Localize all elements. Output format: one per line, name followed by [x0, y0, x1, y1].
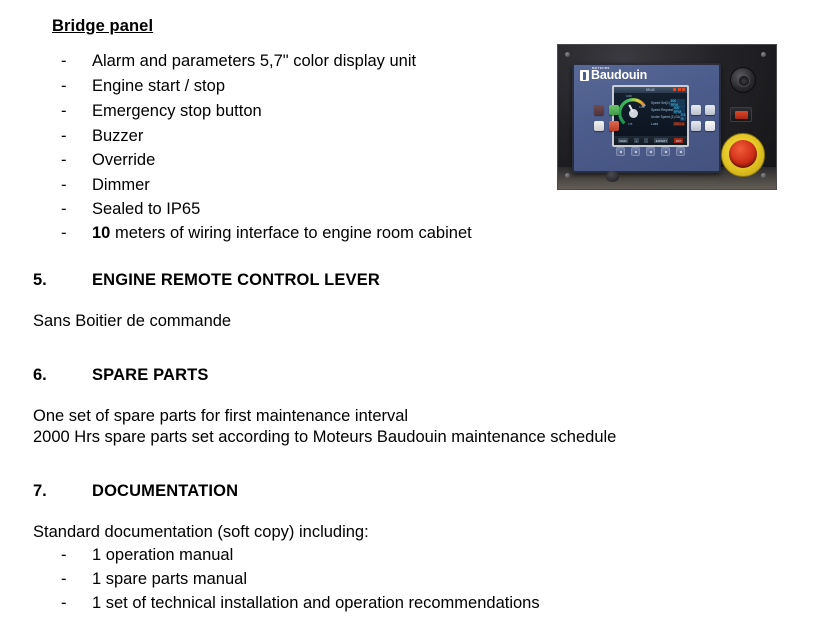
bullet-marker: -: [61, 174, 67, 197]
section-title: DOCUMENTATION: [92, 480, 238, 502]
parameter-row: Load 0001 A: [651, 120, 685, 127]
softkey-label: -: [644, 138, 648, 143]
bullet-marker: -: [61, 100, 67, 123]
section-6-body-line: 2000 Hrs spare parts set according to Mo…: [33, 426, 616, 448]
list-item-label: Buzzer: [92, 125, 143, 148]
bullet-marker: -: [61, 125, 67, 148]
section-number: 5.: [33, 269, 47, 291]
softkey-button: [616, 147, 625, 156]
color-display-unit: 09:41 750 1000 1250 375: [612, 85, 689, 147]
screw-icon: [565, 173, 570, 178]
wiring-length-value: 10: [92, 224, 110, 242]
parameter-label: Speed Set(1): [651, 101, 670, 105]
parameter-value: 0.4 %: [680, 113, 686, 121]
gauge-tick-label: 1250: [639, 106, 645, 109]
screw-icon: [761, 52, 766, 57]
baudouin-mark-icon: [580, 70, 589, 81]
softkey-button: [631, 147, 640, 156]
section-number: 7.: [33, 480, 47, 502]
list-item-label: Sealed to IP65: [92, 198, 200, 221]
list-item-label: Dimmer: [92, 174, 150, 197]
display-content: 750 1000 1250 375 Speed Set(1) 600 RPM S…: [614, 93, 687, 136]
softkey-label: +: [634, 138, 639, 143]
cable-gland-icon: [606, 171, 619, 182]
parameter-label: Speed Request: [651, 108, 673, 112]
parameter-label: Under Speed (1) DA: [651, 115, 680, 119]
list-item-label: Override: [92, 149, 155, 172]
bullet-marker: -: [61, 222, 67, 245]
screw-icon: [565, 52, 570, 57]
parameter-label: Load: [651, 122, 658, 126]
list-item-label: 1 spare parts manual: [92, 568, 247, 591]
brand-word: Baudouin: [591, 69, 647, 81]
bullet-marker: -: [61, 149, 67, 172]
engine-stop-button: [594, 105, 604, 115]
bullet-marker: -: [61, 544, 67, 567]
wiring-length-rest: meters of wiring interface to engine roo…: [110, 224, 471, 242]
display-alarm-indicators: [673, 88, 685, 91]
list-item-label: Emergency stop button: [92, 100, 262, 123]
page-title: Bridge panel: [52, 17, 153, 36]
section-5-body-line: Sans Boitier de commande: [33, 310, 231, 332]
parameter-row: Speed Request 600 RPM: [651, 106, 685, 113]
bridge-panel-photo: MOTEURS Baudouin 09:41 7: [557, 44, 777, 190]
parameter-value: 0001 A: [673, 122, 685, 126]
section-title: ENGINE REMOTE CONTROL LEVER: [92, 269, 380, 291]
baudouin-wordmark: MOTEURS Baudouin: [591, 69, 647, 81]
gauge-tick-label: 1000: [626, 95, 632, 98]
alarm-led-icon: [678, 88, 681, 91]
bullet-marker: -: [61, 568, 67, 591]
baudouin-logo: MOTEURS Baudouin: [580, 69, 647, 81]
screw-icon: [761, 173, 766, 178]
softkey-label: RST: [674, 138, 683, 143]
brand-superscript: MOTEURS: [592, 66, 610, 70]
list-item-label: Engine start / stop: [92, 75, 225, 98]
scroll-up-button: [691, 105, 701, 115]
display-softkey-bar: MAIN + - EXPERT RST: [614, 136, 687, 145]
bullet-marker: -: [61, 75, 67, 98]
alarm-led-icon: [673, 88, 676, 91]
parameter-row: Under Speed (1) DA 0.4 %: [651, 113, 685, 120]
list-item-label: 1 set of technical installation and oper…: [92, 592, 540, 615]
softkey-label: EXPERT: [654, 138, 668, 143]
section-number: 6.: [33, 364, 47, 386]
menu-button: [705, 105, 715, 115]
scroll-down-button: [691, 121, 701, 131]
softkey-label: MAIN: [618, 138, 628, 143]
section-6-body-line: One set of spare parts for first mainten…: [33, 405, 408, 427]
enter-button: [705, 121, 715, 131]
softkey-button: [646, 147, 655, 156]
bullet-marker: -: [61, 50, 67, 73]
override-button: [730, 107, 752, 122]
bullet-marker: -: [61, 592, 67, 615]
display-parameter-rows: Speed Set(1) 600 RPM Speed Request 600 R…: [651, 99, 685, 127]
alarm-reset-button: [609, 121, 619, 131]
engine-start-button: [609, 105, 619, 115]
softkey-button: [661, 147, 670, 156]
buzzer-icon: [730, 67, 756, 93]
emergency-stop-button: [721, 133, 765, 177]
gauge-tick-label: 375: [628, 123, 632, 126]
list-item-label: 10 meters of wiring interface to engine …: [92, 222, 472, 245]
section-7-body-line: Standard documentation (soft copy) inclu…: [33, 521, 369, 543]
alarm-led-icon: [682, 88, 685, 91]
list-item-label: 1 operation manual: [92, 544, 233, 567]
lamp-test-button: [594, 121, 604, 131]
bullet-marker: -: [61, 198, 67, 221]
list-item-label: Alarm and parameters 5,7" color display …: [92, 50, 416, 73]
section-title: SPARE PARTS: [92, 364, 209, 386]
control-panel-face: MOTEURS Baudouin 09:41 7: [572, 63, 721, 173]
document-page: Bridge panel - Alarm and parameters 5,7"…: [0, 0, 831, 623]
softkey-button: [676, 147, 685, 156]
display-clock: 09:41: [646, 88, 655, 92]
parameter-row: Speed Set(1) 600 RPM: [651, 99, 685, 106]
